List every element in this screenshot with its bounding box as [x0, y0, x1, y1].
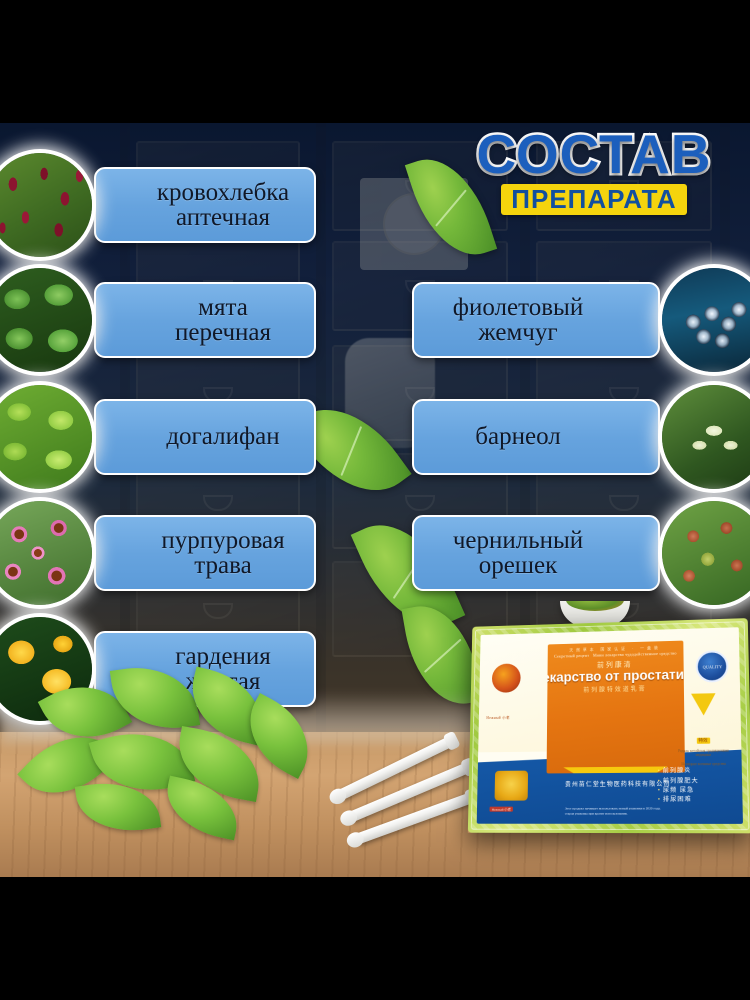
ingredient-label-pill[interactable]: кровохлебка аптечная — [94, 167, 316, 243]
product-box-face: Нежный 小老 QUALITY 天然草本 国家认证 · 一盒装 Секрет… — [477, 627, 743, 824]
mint-sprig — [18, 663, 328, 843]
poster-canvas: СОСТАВ ПРЕПАРАТА кровохлебка аптечная мя… — [0, 123, 750, 877]
ingredient-label-pill[interactable]: мята перечная — [94, 282, 316, 358]
list-item: 尿频 尿急 — [658, 786, 734, 796]
ingredient-row[interactable]: кровохлебка аптечная — [0, 153, 320, 257]
company-emblem-icon — [495, 770, 528, 800]
ingredient-label-pill[interactable]: чернильный орешек — [412, 515, 660, 591]
product-right-notes: 特效 Родная китайская традиционная медицин… — [671, 728, 737, 766]
ingredient-photo-purple-pearls — [662, 268, 750, 372]
ingredient-row[interactable]: догалифан — [0, 385, 320, 489]
ingredient-photo-borneol-blossoms — [662, 385, 750, 489]
right-tag: 特效 — [696, 737, 709, 743]
ingredient-label: барнеол — [475, 424, 560, 450]
ingredient-label: догалифан — [166, 424, 279, 450]
ingredient-row[interactable]: фиолетовый жемчуг — [412, 268, 750, 372]
poster-stage: СОСТАВ ПРЕПАРАТА кровохлебка аптечная мя… — [0, 0, 750, 1000]
heading-title: СОСТАВ — [444, 128, 744, 182]
list-item: 前列腺肥大 — [658, 777, 734, 787]
product-box[interactable]: Нежный 小老 QUALITY 天然草本 国家认证 · 一盒装 Секрет… — [468, 618, 750, 833]
down-arrow-icon — [563, 766, 668, 773]
company-name-cn: 贵州苗仁堂生物医药科技有限公司 — [565, 782, 671, 789]
ingredient-photo-burnet-flowers — [0, 153, 92, 257]
letterbox-bar-top — [0, 0, 750, 123]
ingredient-row[interactable]: чернильный орешек — [412, 501, 750, 605]
ingredient-photo-peppermint-leaves — [0, 268, 92, 372]
quality-seal-label: QUALITY — [703, 664, 723, 669]
product-title: Лекарство от простатита — [547, 668, 685, 685]
indication-list: 前列腺炎 前列腺肥大 尿频 尿急 排尿困难 — [658, 767, 735, 806]
ingredient-label: чернильный орешек — [453, 528, 583, 579]
poster-heading: СОСТАВ ПРЕПАРАТА — [444, 128, 744, 215]
ingredient-label-pill[interactable]: фиолетовый жемчуг — [412, 282, 660, 358]
list-item: 排尿困难 — [658, 796, 735, 806]
ingredient-label: пурпуровая трава — [161, 528, 284, 579]
company-note-ru: Этот продукт начинает использовать новый… — [565, 806, 661, 816]
brand-logo-caption: Нежный 小老 — [486, 716, 510, 721]
letterbox-bar-bottom — [0, 877, 750, 1000]
list-item: 前列腺炎 — [658, 767, 734, 777]
ingredient-row[interactable]: пурпуровая трава — [0, 501, 320, 605]
right-note-1: Родная китайская традиционная медицина — [671, 748, 736, 757]
right-note-2: Немецкие военные средства — [671, 761, 736, 766]
ingredient-photo-ginkgo-leaves — [0, 385, 92, 489]
ingredient-label-pill[interactable]: пурпуровая трава — [94, 515, 316, 591]
heading-subtitle-banner: ПРЕПАРАТА — [501, 184, 686, 215]
ingredient-label: кровохлебка аптечная — [157, 180, 289, 231]
ingredient-photo-echinacea-flowers — [0, 501, 92, 605]
panel-cn-bottom: 前列腺特效道乳膏 — [583, 687, 646, 694]
company-badge: Нежный 小老 — [490, 807, 513, 812]
ingredient-label-pill[interactable]: догалифан — [94, 399, 316, 475]
ingredient-label: мята перечная — [175, 295, 271, 346]
ingredient-label: фиолетовый жемчуг — [453, 295, 583, 346]
heading-subtitle: ПРЕПАРАТА — [511, 186, 676, 212]
panel-ru-top: Секретный рецепт Мини лекарства чудодейс… — [554, 651, 677, 658]
ingredient-row[interactable]: барнеол — [412, 385, 750, 489]
ingredient-label-pill[interactable]: барнеол — [412, 399, 660, 475]
ingredient-photo-gall-nuts — [662, 501, 750, 605]
ingredient-row[interactable]: мята перечная — [0, 268, 320, 372]
seal-ribbon-icon — [691, 693, 716, 715]
product-orange-panel: 天然草本 国家认证 · 一盒装 Секретный рецепт Мини ле… — [547, 640, 685, 773]
